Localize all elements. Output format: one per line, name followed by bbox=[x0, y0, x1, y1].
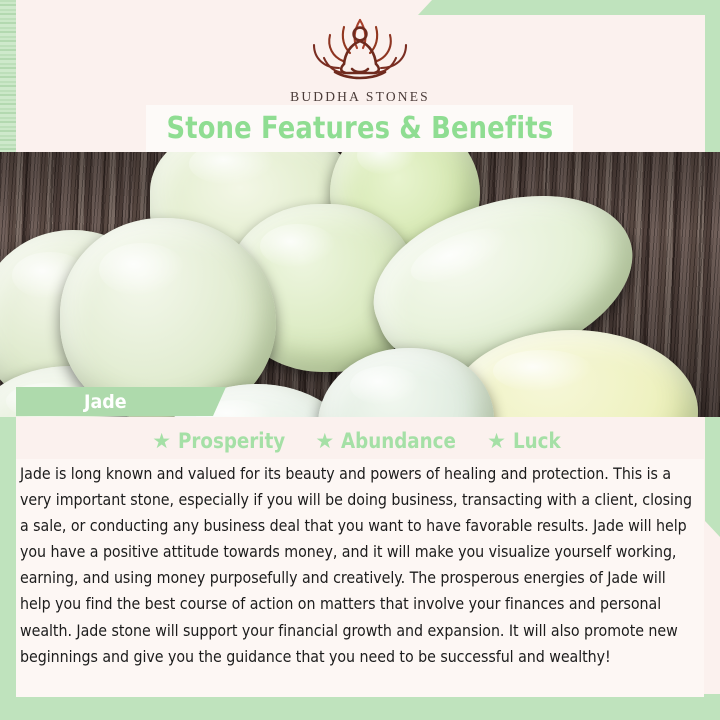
brand-name: BUDDHA STONES bbox=[290, 89, 430, 105]
keyword-item-luck: ★ Luck bbox=[473, 429, 568, 453]
stone-name-band: Jade bbox=[16, 387, 226, 416]
title-banner: Stone Features & Benefits bbox=[146, 105, 573, 152]
page-title: Stone Features & Benefits bbox=[166, 111, 553, 146]
decor-bottom-bar-wrap bbox=[0, 694, 720, 720]
decor-top-right-bar bbox=[418, 0, 720, 15]
description-panel: Jade is long known and valued for its be… bbox=[16, 459, 704, 697]
keyword-label: Abundance bbox=[341, 429, 456, 453]
infographic-page: BUDDHA STONES Stone Features & Benefits … bbox=[0, 0, 720, 720]
keyword-label: Prosperity bbox=[178, 429, 285, 453]
keyword-list: ★ Prosperity ★ Abundance ★ Luck bbox=[0, 429, 720, 453]
decor-bottom-bar bbox=[0, 694, 720, 720]
stone-name-label: Jade bbox=[84, 391, 127, 413]
star-icon: ★ bbox=[487, 431, 506, 452]
lotus-meditation-figure-icon bbox=[300, 14, 420, 86]
keyword-item-prosperity: ★ Prosperity bbox=[152, 429, 301, 453]
stone-photo bbox=[0, 152, 720, 417]
star-icon: ★ bbox=[152, 431, 171, 452]
keyword-item-abundance: ★ Abundance bbox=[301, 429, 473, 453]
star-icon: ★ bbox=[315, 431, 334, 452]
brand-logo: BUDDHA STONES bbox=[0, 14, 720, 105]
keyword-label: Luck bbox=[513, 429, 561, 453]
description-text: Jade is long known and valued for its be… bbox=[20, 461, 700, 670]
